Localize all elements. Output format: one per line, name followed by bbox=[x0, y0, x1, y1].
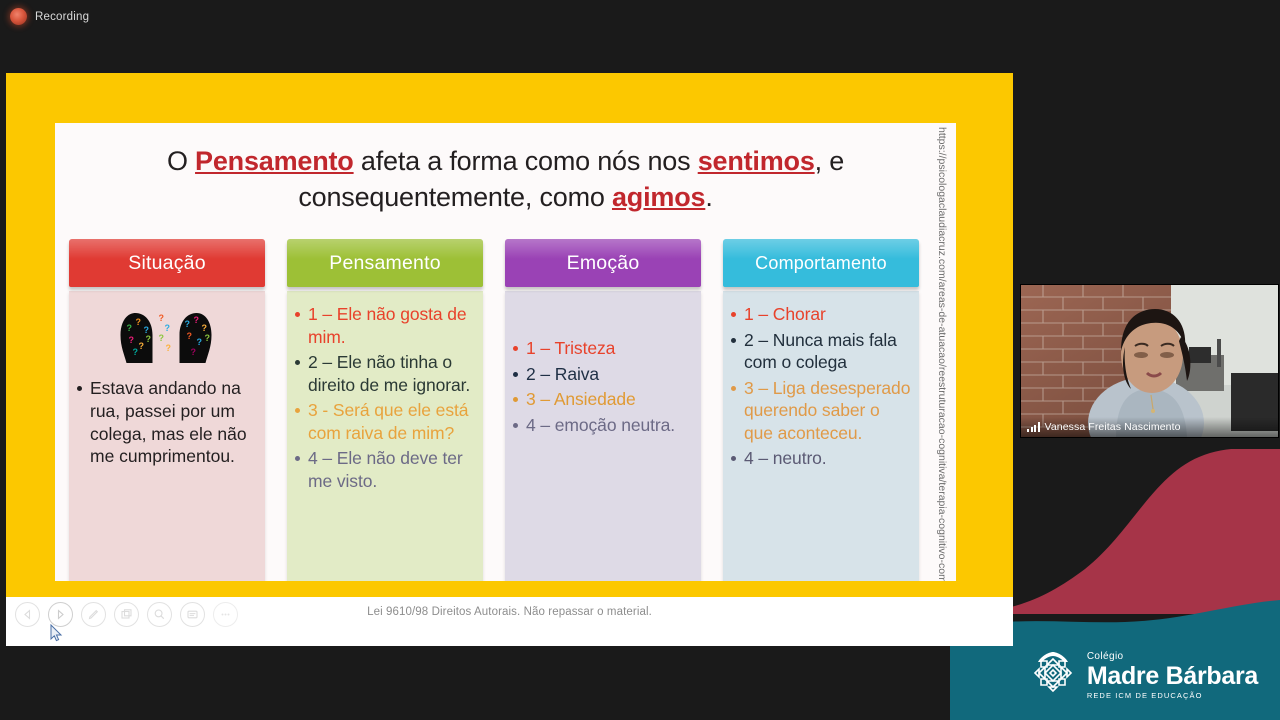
svg-text:?: ? bbox=[191, 347, 197, 357]
two-heads-question-marks-icon: ? ? ? ? ? ? ? ? ? ? bbox=[75, 305, 257, 369]
column-body-pensamento: 1 – Ele não gosta de mim. 2 – Ele não ti… bbox=[287, 291, 483, 581]
viewer-toolbar bbox=[15, 602, 238, 627]
recording-label: Recording bbox=[35, 11, 89, 23]
svg-text:?: ? bbox=[159, 313, 165, 323]
mouse-cursor bbox=[50, 624, 63, 646]
participant-video-tile[interactable]: Vanessa Freitas Nascimento bbox=[1020, 284, 1279, 438]
shared-screen-panel: O Pensamento afeta a forma como nós nos … bbox=[6, 73, 1013, 646]
recording-indicator: Recording bbox=[10, 8, 89, 25]
headline-highlight-pensamento: Pensamento bbox=[195, 146, 354, 176]
zoom-button[interactable] bbox=[147, 602, 172, 627]
list-item: 4 – neutro. bbox=[729, 447, 911, 470]
svg-text:?: ? bbox=[139, 341, 145, 351]
column-pensamento: Pensamento 1 – Ele não gosta de mim. 2 –… bbox=[287, 239, 483, 581]
list-item: 4 – emoção neutra. bbox=[511, 414, 693, 437]
headline-mid-1: afeta a forma como nós nos bbox=[354, 146, 698, 176]
column-body-situacao: ? ? ? ? ? ? ? ? ? ? bbox=[69, 291, 265, 581]
participant-name: Vanessa Freitas Nascimento bbox=[1045, 421, 1181, 433]
headline-highlight-agimos: agimos bbox=[612, 182, 705, 212]
recording-dot-icon bbox=[10, 8, 27, 25]
svg-text:?: ? bbox=[197, 337, 203, 347]
svg-text:?: ? bbox=[129, 335, 135, 345]
slide-columns: Situação ? ? bbox=[69, 239, 944, 581]
list-item: 1 – Ele não gosta de mim. bbox=[293, 303, 475, 348]
recording-bar: Recording bbox=[0, 0, 1280, 33]
signal-bars-icon bbox=[1027, 422, 1040, 432]
svg-text:?: ? bbox=[159, 333, 165, 343]
madre-barbara-emblem-icon bbox=[1030, 650, 1076, 702]
column-header-comportamento: Comportamento bbox=[723, 239, 919, 287]
list-item: 2 – Nunca mais fala com o colega bbox=[729, 329, 911, 374]
list-item: 1 – Tristeza bbox=[511, 337, 693, 360]
logo-pre-label: Colégio bbox=[1087, 652, 1258, 662]
column-header-pensamento: Pensamento bbox=[287, 239, 483, 287]
svg-text:?: ? bbox=[185, 319, 191, 329]
headline-highlight-sentimos: sentimos bbox=[698, 146, 815, 176]
column-body-emocao: 1 – Tristeza 2 – Raiva 3 – Ansiedade 4 –… bbox=[505, 291, 701, 581]
column-title: Emoção bbox=[567, 252, 640, 275]
svg-text:?: ? bbox=[165, 323, 171, 333]
column-header-emocao: Emoção bbox=[505, 239, 701, 287]
slide-source-url: https://psicologaclaudiacruz.com/areas-d… bbox=[936, 127, 954, 581]
pen-button[interactable] bbox=[81, 602, 106, 627]
column-comportamento: Comportamento 1 – Chorar 2 – Nunca mais … bbox=[723, 239, 919, 581]
svg-text:?: ? bbox=[127, 323, 133, 333]
svg-text:?: ? bbox=[194, 315, 200, 325]
svg-text:?: ? bbox=[202, 323, 208, 333]
stamp-button[interactable] bbox=[114, 602, 139, 627]
column-title: Comportamento bbox=[755, 253, 887, 274]
list-item: 1 – Chorar bbox=[729, 303, 911, 326]
svg-text:?: ? bbox=[133, 347, 139, 357]
svg-text:?: ? bbox=[146, 334, 152, 344]
previous-button[interactable] bbox=[15, 602, 40, 627]
slide-headline: O Pensamento afeta a forma como nós nos … bbox=[55, 143, 956, 215]
svg-text:?: ? bbox=[187, 331, 193, 341]
school-logo: Colégio Madre Bárbara REDE ICM DE EDUCAÇ… bbox=[1030, 650, 1258, 702]
headline-prefix: O bbox=[167, 146, 195, 176]
svg-text:?: ? bbox=[205, 333, 211, 343]
slide-yellow-frame: O Pensamento afeta a forma como nós nos … bbox=[6, 73, 1013, 597]
more-button[interactable] bbox=[213, 602, 238, 627]
column-item-text: Estava andando na rua, passei por um col… bbox=[75, 377, 257, 468]
list-item: 2 – Ele não tinha o direito de me ignora… bbox=[293, 351, 475, 396]
logo-main-label: Madre Bárbara bbox=[1087, 664, 1258, 689]
logo-sub-label: REDE ICM DE EDUCAÇÃO bbox=[1087, 692, 1258, 700]
list-item: 3 - Será que ele está com raiva de mim? bbox=[293, 399, 475, 444]
svg-text:?: ? bbox=[136, 317, 142, 327]
svg-text:?: ? bbox=[166, 343, 172, 353]
slide-canvas: O Pensamento afeta a forma como nós nos … bbox=[55, 123, 956, 581]
column-body-comportamento: 1 – Chorar 2 – Nunca mais fala com o col… bbox=[723, 291, 919, 581]
participant-video-frame bbox=[1021, 285, 1278, 437]
column-situacao: Situação ? ? bbox=[69, 239, 265, 581]
list-item: 2 – Raiva bbox=[511, 363, 693, 386]
column-emocao: Emoção 1 – Tristeza 2 – Raiva 3 – Ansied… bbox=[505, 239, 701, 581]
list-item: 3 – Liga desesperado querendo saber o qu… bbox=[729, 377, 911, 445]
list-item: 4 – Ele não deve ter me visto. bbox=[293, 447, 475, 492]
column-title: Situação bbox=[128, 252, 206, 275]
list-item: 3 – Ansiedade bbox=[511, 388, 693, 411]
participant-name-bar: Vanessa Freitas Nascimento bbox=[1021, 417, 1278, 437]
column-title: Pensamento bbox=[329, 252, 441, 275]
viewer-footer: Lei 9610/98 Direitos Autorais. Não repas… bbox=[6, 597, 1013, 646]
column-header-situacao: Situação bbox=[69, 239, 265, 287]
headline-suffix: . bbox=[705, 182, 712, 212]
notes-button[interactable] bbox=[180, 602, 205, 627]
